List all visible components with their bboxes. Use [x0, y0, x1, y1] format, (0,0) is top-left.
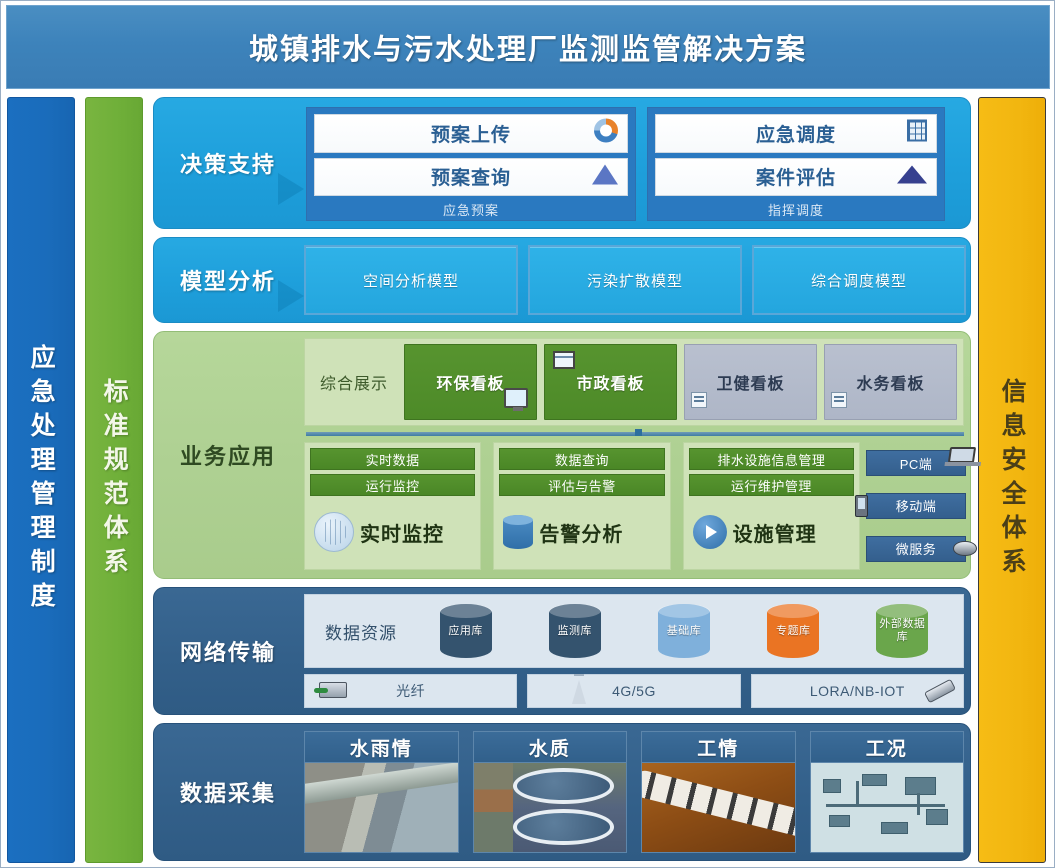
chevron-right-icon	[278, 173, 304, 205]
data-resources-row: 数据资源 应用库 监测库 基础库	[304, 594, 964, 668]
pillar-information-security: 信息安全体系	[978, 97, 1046, 863]
database-external[interactable]: 外部数据库	[850, 602, 955, 660]
card-work-condition-label: 工情	[697, 734, 739, 761]
kanban-municipal-label: 市政看板	[576, 370, 644, 394]
model-spatial-analysis-label: 空间分析模型	[363, 270, 459, 291]
database-thematic[interactable]: 专题库	[741, 602, 846, 660]
link-cellular-label: 4G/5G	[612, 683, 656, 699]
client-pc-label: PC端	[900, 454, 933, 473]
pillar-emergency-label: 应急处理管理制度	[28, 344, 54, 616]
integrated-display-row: 综合展示 环保看板 市政看板 卫健看板 水务看板	[304, 338, 964, 426]
database-cylinder-icon: 基础库	[658, 604, 710, 658]
layer-decision-body: 预案上传 预案查询 应急预案 应急调度 案件评估	[302, 98, 970, 228]
app-facility-management[interactable]: 设施管理	[689, 500, 854, 564]
card-water-rain-label: 水雨情	[350, 734, 413, 761]
cylinder-icon	[503, 515, 533, 549]
button-case-assessment[interactable]: 案件评估	[655, 158, 937, 197]
database-cylinder-icon: 专题库	[767, 604, 819, 658]
window-icon	[553, 351, 575, 374]
diagram-title-bar: 城镇排水与污水处理厂监测监管解决方案	[6, 5, 1050, 89]
database-cylinder-icon: 外部数据库	[876, 604, 928, 658]
link-lora-nbiot-label: LORA/NB-IOT	[810, 683, 905, 699]
layer-business-label-wrap: 业务应用	[154, 332, 302, 578]
chip-drainage-facility-info[interactable]: 排水设施信息管理	[689, 448, 854, 470]
globe-icon	[314, 512, 354, 552]
acquisition-cards: 水雨情 水质	[304, 731, 964, 853]
layer-decision-support: 决策支持 预案上传 预案查询 应急预案 应	[153, 97, 971, 229]
business-columns: 实时数据 运行监控 实时监控 数据查询	[304, 442, 860, 570]
network-links-row: 光纤 4G/5G LORA/NB-IOT	[304, 674, 964, 708]
pillar-standards-label: 标准规范体系	[101, 378, 127, 582]
card-water-rain[interactable]: 水雨情	[304, 731, 459, 853]
chip-operation-maintenance-label: 运行维护管理	[731, 476, 812, 495]
database-external-label: 外部数据库	[876, 618, 928, 643]
layer-data-acquisition: 数据采集 水雨情 水质	[153, 723, 971, 861]
scada-schematic-photo	[810, 763, 965, 853]
page-title: 城镇排水与污水处理厂监测监管解决方案	[249, 26, 807, 68]
layer-business-body: 综合展示 环保看板 市政看板 卫健看板 水务看板	[302, 332, 970, 578]
chip-realtime-data[interactable]: 实时数据	[310, 448, 475, 470]
solution-architecture-diagram: 城镇排水与污水处理厂监测监管解决方案 应急处理管理制度 标准规范体系 信息安全体…	[0, 0, 1055, 868]
monitor-icon	[504, 388, 528, 413]
app-facility-management-label: 设施管理	[733, 518, 817, 547]
layer-network-label: 网络传输	[180, 635, 276, 667]
button-plan-upload[interactable]: 预案上传	[314, 114, 628, 153]
sewage-tanks-photo	[473, 763, 628, 853]
layer-acquire-body: 水雨情 水质	[302, 724, 970, 860]
doc-icon	[691, 392, 707, 413]
app-alarm-analysis-label: 告警分析	[539, 518, 623, 547]
kanban-municipal[interactable]: 市政看板	[544, 344, 677, 420]
client-microservice-label: 微服务	[896, 539, 937, 558]
card-work-condition-header: 工情	[641, 731, 796, 763]
link-cellular[interactable]: 4G/5G	[527, 674, 740, 708]
layer-model-analysis: 模型分析 空间分析模型 污染扩散模型 综合调度模型	[153, 237, 971, 323]
layer-decision-label: 决策支持	[180, 147, 276, 179]
layer-stack: 决策支持 预案上传 预案查询 应急预案 应	[153, 97, 971, 863]
layer-network-label-wrap: 网络传输	[154, 588, 302, 714]
card-operating-status-label: 工况	[866, 734, 908, 761]
client-microservice[interactable]: 微服务	[866, 536, 966, 562]
card-water-rain-header: 水雨情	[304, 731, 459, 763]
chip-operation-monitoring-label: 运行监控	[366, 476, 420, 495]
link-fiber[interactable]: 光纤	[304, 674, 517, 708]
doc-icon	[831, 392, 847, 413]
button-case-assessment-label: 案件评估	[756, 163, 836, 190]
layer-business-label: 业务应用	[180, 439, 276, 471]
button-plan-query-label: 预案查询	[431, 163, 511, 190]
chip-drainage-facility-info-label: 排水设施信息管理	[717, 450, 825, 469]
fiber-icon	[319, 682, 347, 701]
pillar-emergency-management: 应急处理管理制度	[7, 97, 75, 863]
kanban-environment[interactable]: 环保看板	[404, 344, 537, 420]
button-emergency-dispatch-label: 应急调度	[756, 120, 836, 147]
phone-icon	[855, 495, 868, 520]
button-plan-upload-label: 预案上传	[431, 120, 511, 147]
data-resources-label: 数据资源	[313, 619, 409, 644]
divider	[306, 432, 964, 436]
card-water-quality-label: 水质	[529, 734, 571, 761]
link-lora-nbiot[interactable]: LORA/NB-IOT	[751, 674, 964, 708]
pillar-security-label: 信息安全体系	[999, 378, 1025, 582]
chip-assessment-alarm[interactable]: 评估与告警	[499, 474, 664, 496]
client-endpoints: PC端 移动端 微服务	[866, 442, 966, 570]
client-mobile-label: 移动端	[896, 496, 937, 515]
link-fiber-label: 光纤	[396, 681, 425, 701]
chip-assessment-alarm-label: 评估与告警	[548, 476, 616, 495]
card-work-condition[interactable]: 工情	[641, 731, 796, 853]
model-integrated-dispatch-label: 综合调度模型	[811, 270, 907, 291]
group-command-dispatch-caption: 指挥调度	[655, 201, 937, 218]
tower-icon	[572, 680, 586, 707]
database-cylinder-icon: 应用库	[440, 604, 492, 658]
pipeline-trench-photo	[641, 763, 796, 853]
database-thematic-label: 专题库	[776, 625, 811, 638]
model-row: 空间分析模型 污染扩散模型 综合调度模型	[304, 245, 966, 315]
card-operating-status-header: 工况	[810, 731, 965, 763]
app-alarm-analysis[interactable]: 告警分析	[499, 500, 664, 564]
layer-network-transmission: 网络传输 数据资源 应用库 监测库	[153, 587, 971, 715]
client-pc[interactable]: PC端	[866, 450, 966, 476]
model-pollution-diffusion[interactable]: 污染扩散模型	[528, 245, 742, 315]
group-command-dispatch: 应急调度 案件评估 指挥调度	[647, 107, 945, 221]
layer-network-body: 数据资源 应用库 监测库 基础库	[302, 588, 970, 714]
business-column-alarm: 数据查询 评估与告警 告警分析	[493, 442, 670, 570]
database-application[interactable]: 应用库	[413, 602, 518, 660]
river-channel-photo	[304, 763, 459, 853]
layer-model-label: 模型分析	[180, 264, 276, 296]
client-mobile[interactable]: 移动端	[866, 493, 966, 519]
integrated-display-label: 综合展示	[311, 370, 397, 394]
chip-operation-monitoring[interactable]: 运行监控	[310, 474, 475, 496]
kanban-environment-label: 环保看板	[436, 370, 504, 394]
chevron-right-icon	[278, 280, 304, 312]
model-integrated-dispatch[interactable]: 综合调度模型	[752, 245, 966, 315]
business-column-monitoring: 实时数据 运行监控 实时监控	[304, 442, 481, 570]
business-column-facility: 排水设施信息管理 运行维护管理 设施管理	[683, 442, 860, 570]
mouse-icon	[953, 541, 977, 559]
kanban-water-affairs-label: 水务看板	[856, 370, 924, 394]
chip-data-query[interactable]: 数据查询	[499, 448, 664, 470]
app-realtime-monitoring[interactable]: 实时监控	[310, 500, 475, 564]
database-monitoring[interactable]: 监测库	[522, 602, 627, 660]
database-application-label: 应用库	[448, 625, 483, 638]
button-emergency-dispatch[interactable]: 应急调度	[655, 114, 937, 153]
card-operating-status[interactable]: 工况	[810, 731, 965, 853]
group-emergency-plan-caption: 应急预案	[314, 201, 628, 218]
sensor-icon	[925, 684, 955, 700]
button-plan-query[interactable]: 预案查询	[314, 158, 628, 197]
kanban-health-label: 卫健看板	[716, 370, 784, 394]
app-realtime-monitoring-label: 实时监控	[360, 518, 444, 547]
dial-icon	[594, 119, 618, 148]
layer-business-application: 业务应用 综合展示 环保看板 市政看板 卫健看板	[153, 331, 971, 579]
layer-acquire-label-wrap: 数据采集	[154, 724, 302, 860]
pyramid-dark-icon	[897, 165, 927, 188]
kanban-health[interactable]: 卫健看板	[684, 344, 817, 420]
database-cylinder-icon: 监测库	[549, 604, 601, 658]
layer-model-body: 空间分析模型 污染扩散模型 综合调度模型	[302, 238, 970, 322]
grid-icon	[907, 120, 927, 147]
database-basic-label: 基础库	[667, 625, 702, 638]
layer-decision-label-wrap: 决策支持	[154, 98, 302, 228]
play-icon	[693, 515, 727, 549]
laptop-icon	[949, 447, 975, 466]
layer-acquire-label: 数据采集	[180, 776, 276, 808]
group-emergency-plan: 预案上传 预案查询 应急预案	[306, 107, 636, 221]
card-water-quality-header: 水质	[473, 731, 628, 763]
chip-data-query-label: 数据查询	[555, 450, 609, 469]
database-monitoring-label: 监测库	[558, 625, 593, 638]
kanban-water-affairs[interactable]: 水务看板	[824, 344, 957, 420]
pyramid-icon	[592, 164, 618, 189]
model-spatial-analysis[interactable]: 空间分析模型	[304, 245, 518, 315]
chip-operation-maintenance[interactable]: 运行维护管理	[689, 474, 854, 496]
chip-realtime-data-label: 实时数据	[366, 450, 420, 469]
card-water-quality[interactable]: 水质	[473, 731, 628, 853]
pillar-standards-system: 标准规范体系	[85, 97, 143, 863]
model-pollution-diffusion-label: 污染扩散模型	[587, 270, 683, 291]
database-basic[interactable]: 基础库	[631, 602, 736, 660]
layer-model-label-wrap: 模型分析	[154, 238, 302, 322]
